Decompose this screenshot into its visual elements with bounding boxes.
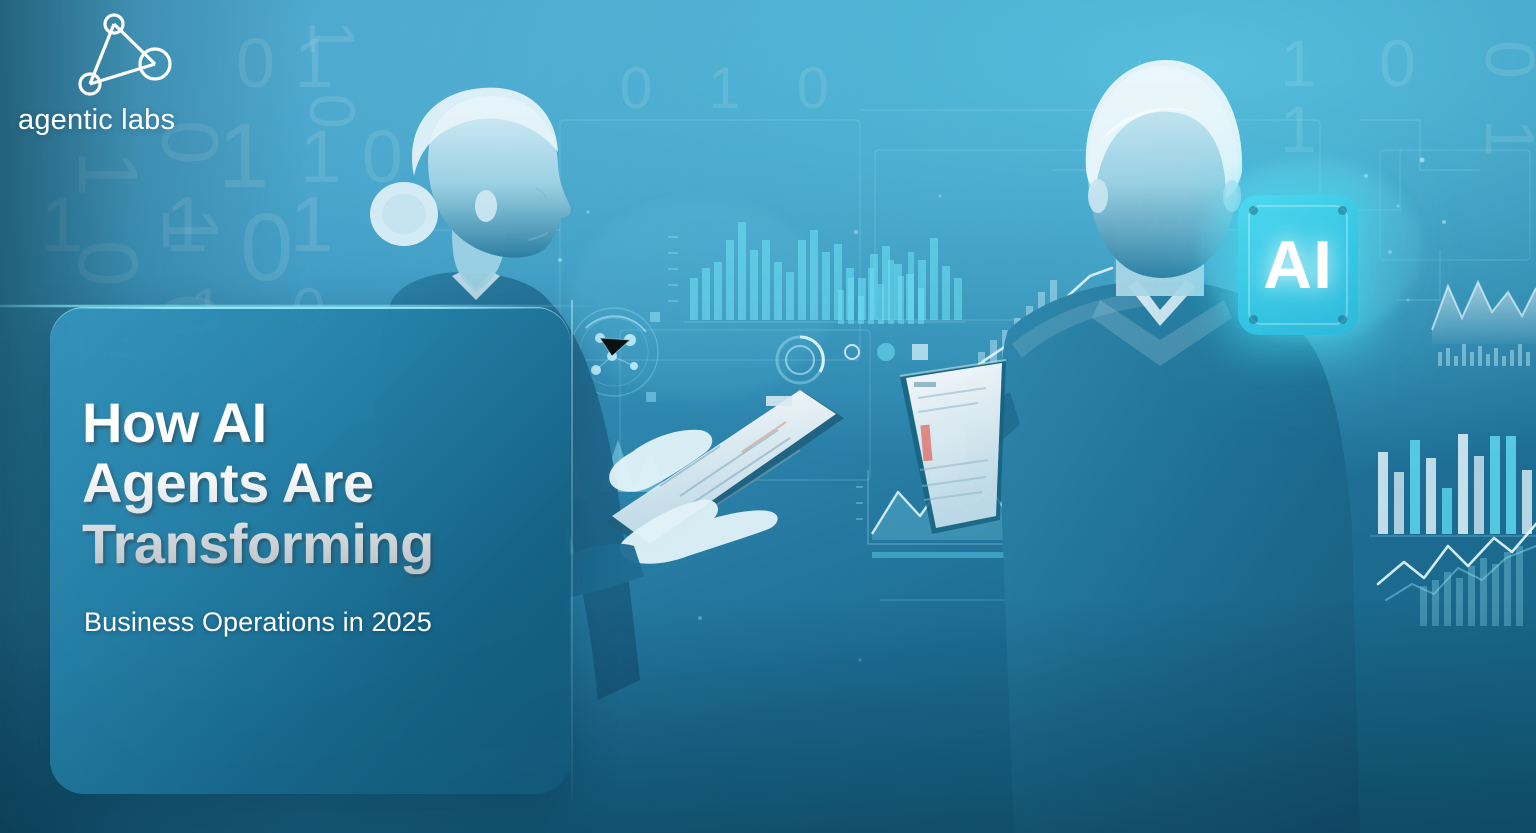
- clipboard-document: [560, 390, 844, 598]
- page-subtitle: Business Operations in 2025: [84, 607, 432, 638]
- headline-line-3: Transforming: [82, 514, 552, 574]
- ai-chip-label: AI: [1263, 231, 1333, 299]
- brand-wordmark: agentic labs: [18, 104, 258, 137]
- tablet-document: [900, 360, 1006, 534]
- chart-triangle-peaks: [560, 440, 668, 500]
- ai-chip-corner-dot: [1249, 206, 1258, 215]
- chart-bottom-right-trend: [1378, 524, 1536, 626]
- headline-line-1: How AI: [82, 393, 552, 453]
- hero-banner: 1 0 1 0 1 0 1 1 1 1 0 1 0 0 1 1 0 1 0 1 …: [0, 0, 1536, 833]
- page-title: How AI Agents Are Transforming: [82, 393, 552, 574]
- chart-right-area-peaks: [1432, 282, 1536, 366]
- ai-chip-icon: AI: [1238, 195, 1358, 335]
- radial-dial-gauge: [777, 337, 928, 383]
- chart-right-alternating-bars: [1370, 434, 1536, 536]
- ai-chip-corner-dot: [1338, 315, 1347, 324]
- triangle-network-nodes-icon: [78, 12, 188, 100]
- card-right-seam: [571, 300, 573, 800]
- tablet-edge-highlight: [900, 360, 1006, 376]
- person-man-figure: [927, 60, 1360, 833]
- chart-small-bar-cluster: [838, 252, 924, 324]
- hero-title-card: How AI Agents Are Transforming Business …: [50, 307, 570, 794]
- circular-network-gauge: [566, 308, 660, 402]
- ai-chip-corner-dot: [1338, 206, 1347, 215]
- headline-line-2: Agents Are: [82, 453, 552, 513]
- chart-growth-line: [950, 268, 1122, 388]
- chart-zigzag-area: [856, 470, 1046, 558]
- chart-center-bar-spectrum: [668, 222, 966, 322]
- ai-chip-corner-dot: [1249, 315, 1258, 324]
- brand-logo[interactable]: agentic labs: [18, 12, 258, 137]
